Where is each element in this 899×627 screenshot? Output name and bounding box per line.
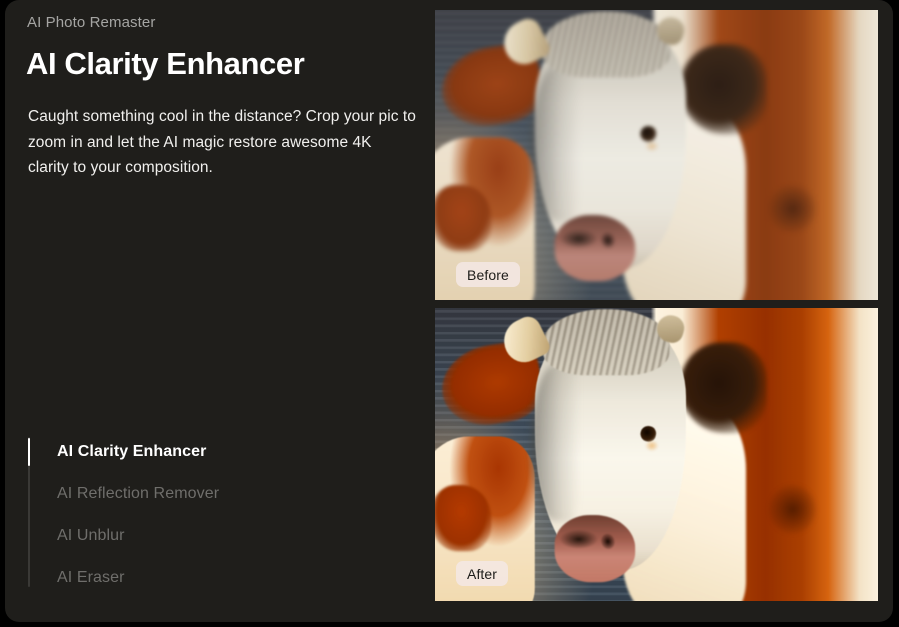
photo-layer-forelock [543,11,669,77]
sidebar-item-ai-clarity-enhancer[interactable]: AI Clarity Enhancer [57,438,207,466]
photo-layer-dark-spot [769,485,817,534]
photo-layer-forelock [543,309,669,376]
app-screen: AI Photo Remaster AI Clarity Enhancer Ca… [0,0,899,627]
photo-layer-cheek-shadow [531,364,581,522]
sidebar-item-ai-reflection-remover[interactable]: AI Reflection Remover [57,480,219,508]
photo-layer-ear-shadow [680,44,767,134]
status-badge-after: After [456,561,508,586]
app-eyebrow-label: AI Photo Remaster [27,14,155,31]
preview-after-pane: After [435,308,878,601]
sidebar-item-ai-unblur[interactable]: AI Unblur [57,522,125,550]
info-panel: AI Photo Remaster AI Clarity Enhancer Ca… [5,0,435,622]
page-title: AI Clarity Enhancer [26,44,304,84]
feature-card: AI Photo Remaster AI Clarity Enhancer Ca… [5,0,893,622]
photo-layer-muzzle [555,215,636,281]
sidebar-item-ai-eraser[interactable]: AI Eraser [57,564,125,592]
photo-layer-muzzle [555,515,636,582]
photo-layer-ear-shadow [680,342,767,433]
cow-photo-before [435,10,878,300]
preview-before-pane: Before [435,10,878,300]
cow-photo-after [435,308,878,601]
photo-layer-cheek-shadow [531,65,581,221]
nav-active-indicator [28,438,30,466]
status-badge-before: Before [456,262,520,287]
photo-layer-secondary-cow-patch [435,185,491,251]
photo-layer-dark-spot [769,185,817,233]
feature-description: Caught something cool in the distance? C… [28,104,416,181]
photo-layer-secondary-cow-patch [435,485,491,552]
photo-layer-eye-highlight [646,441,658,451]
